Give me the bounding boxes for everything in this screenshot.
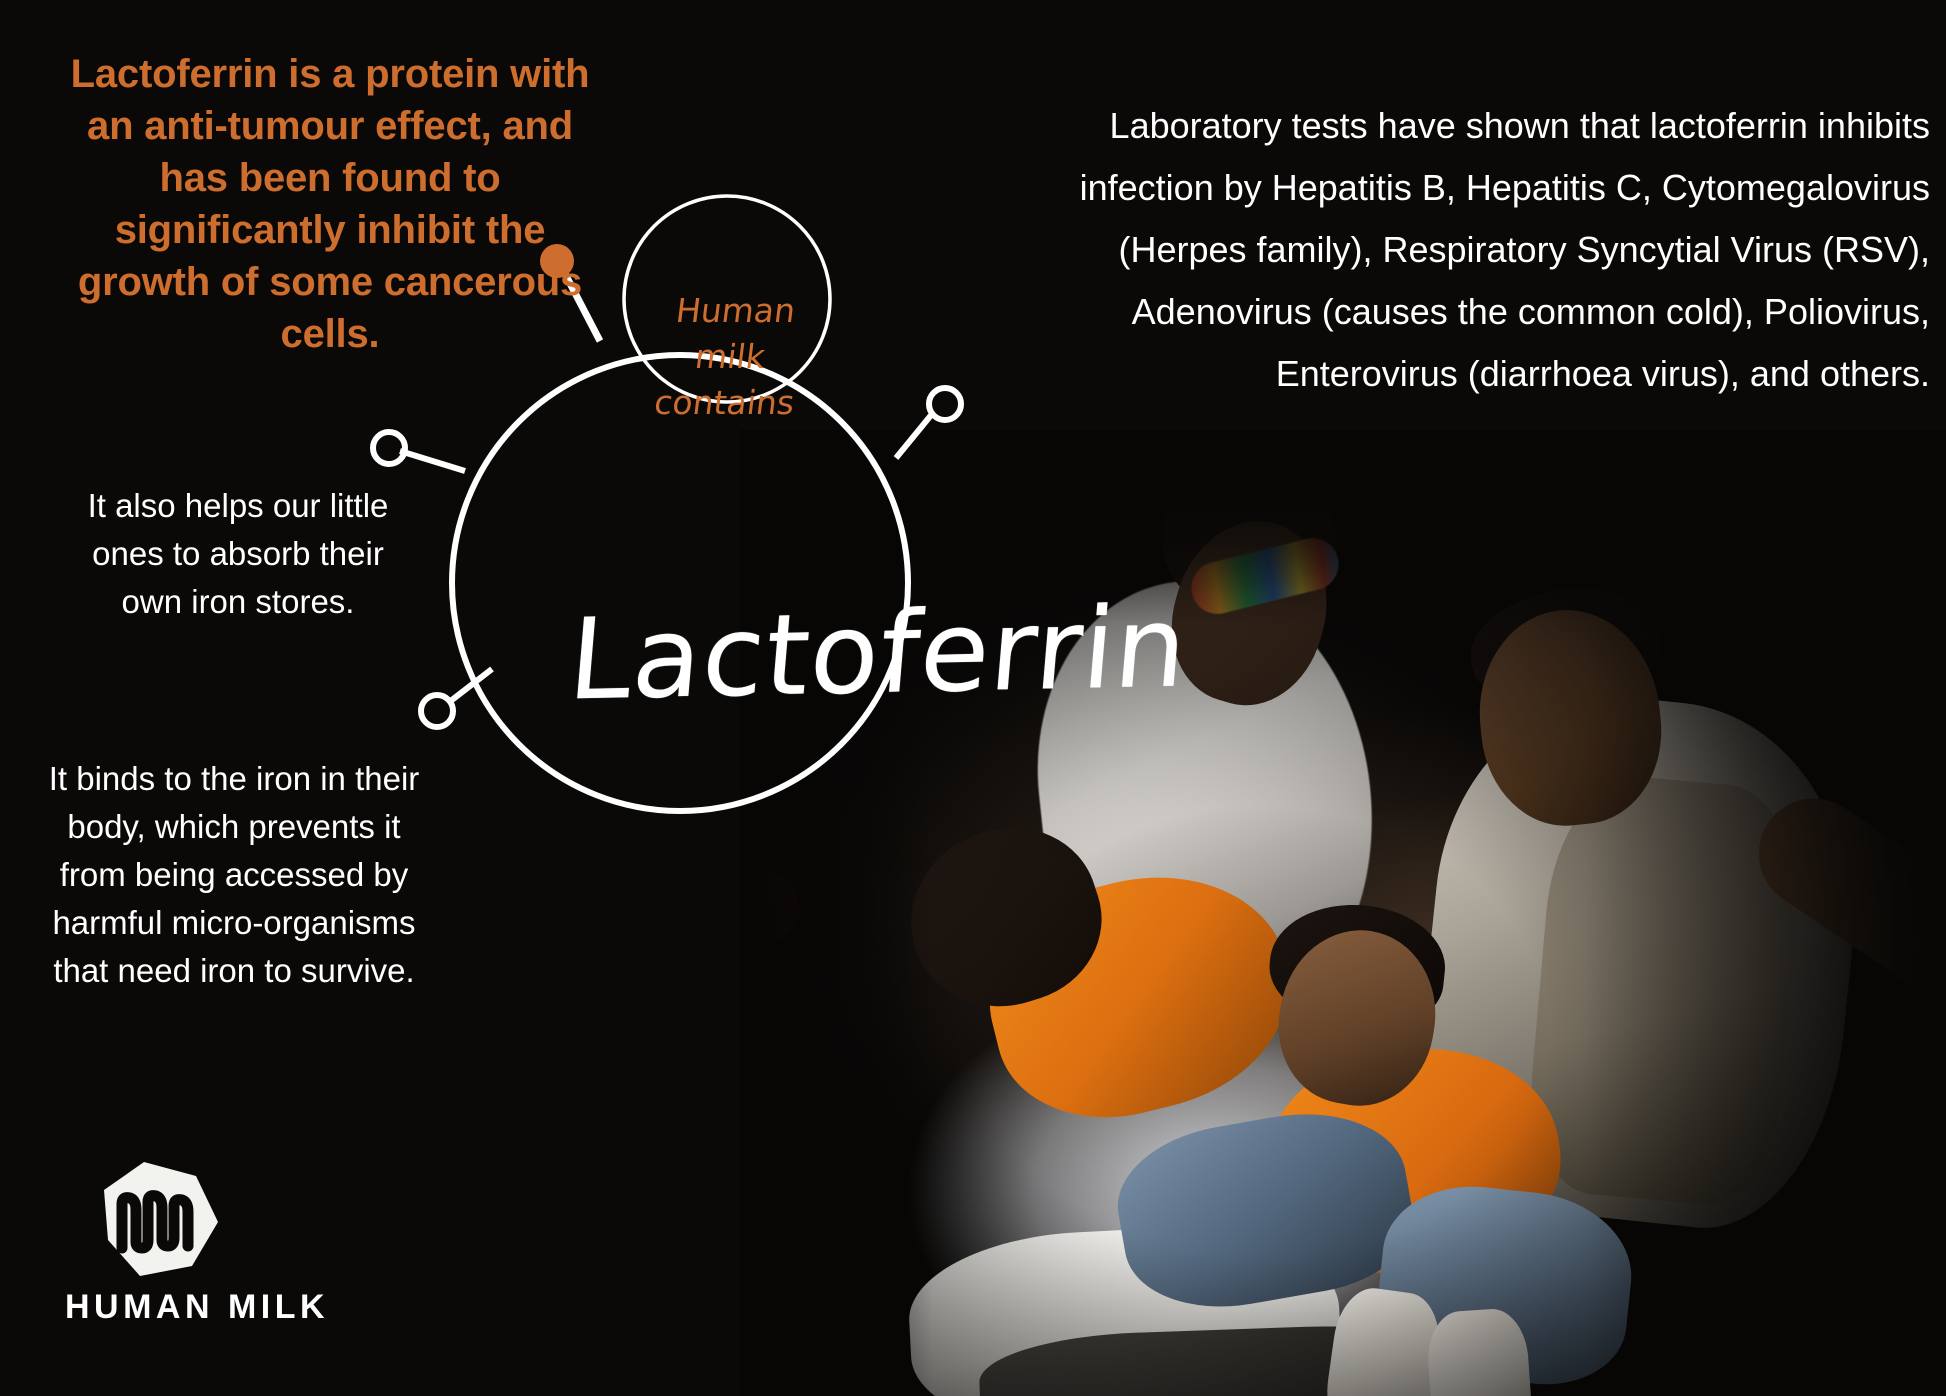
page-title: Lactoferrin — [565, 592, 1192, 717]
connector-dot-iron — [373, 432, 405, 464]
connector-dot-binding — [421, 695, 453, 727]
connector-line-binding — [448, 669, 492, 703]
family-photo — [740, 430, 1946, 1396]
bubble-label: Human milk contains — [632, 288, 829, 426]
photo-vignette — [740, 430, 1946, 1396]
headline-text: Lactoferrin is a protein with an anti-tu… — [70, 48, 590, 360]
infographic-poster: Lactoferrin is a protein with an anti-tu… — [0, 0, 1946, 1396]
paragraph-iron-binding: It binds to the iron in their body, whic… — [34, 755, 434, 995]
connector-line-iron — [400, 451, 465, 471]
logo-wordmark: HUMAN MILK — [65, 1288, 329, 1327]
paragraph-lab-tests: Laboratory tests have shown that lactofe… — [1010, 95, 1930, 405]
hm-monogram-icon — [100, 1160, 220, 1278]
brand-logo[interactable]: HUMAN MILK — [65, 1160, 335, 1350]
connector-dot-labtests — [929, 388, 961, 420]
paragraph-iron-absorption: It also helps our little ones to absorb … — [58, 482, 418, 626]
